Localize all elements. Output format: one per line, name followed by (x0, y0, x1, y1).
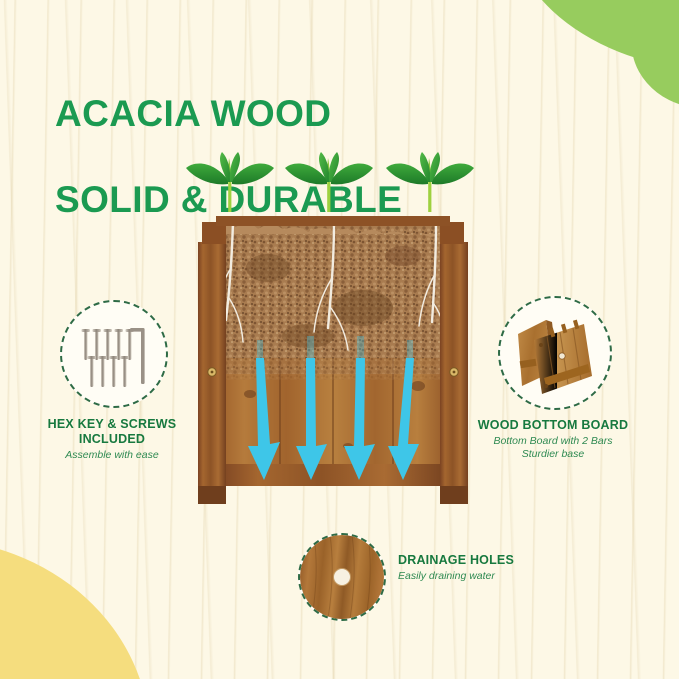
callout-hex-key-screws-text: HEX KEY & SCREWS INCLUDED Assemble with … (23, 417, 201, 462)
callout-wood-bottom-board-text: WOOD BOTTOM BOARD Bottom Board with 2 Ba… (458, 418, 648, 462)
page-title-line-1: ACACIA WOOD (55, 93, 402, 136)
callout-hex-key-screws: HEX KEY & SCREWS INCLUDED Assemble with … (60, 300, 201, 462)
callout-wood-bottom-board-title: WOOD BOTTOM BOARD (458, 418, 648, 433)
callout-drainage-holes-subtitle: Easily draining water (398, 570, 548, 583)
infographic-canvas: ACACIA WOOD SOLID & DURABLE (0, 0, 679, 679)
planter-box-cross-section (188, 208, 478, 510)
yellow-corner-blob (0, 539, 150, 679)
callout-drainage-holes-title: DRAINAGE HOLES (398, 553, 548, 568)
callout-hex-key-screws-title: HEX KEY & SCREWS INCLUDED (23, 417, 201, 447)
drainage-hole-icon (298, 533, 386, 621)
seedling-1 (184, 150, 276, 212)
callout-hex-key-screws-subtitle: Assemble with ease (23, 449, 201, 462)
callout-wood-bottom-board-subtitle-1: Bottom Board with 2 Bars (458, 435, 648, 448)
seedling-2 (283, 150, 375, 212)
wood-bottom-board-icon (498, 296, 612, 410)
seedling-3 (384, 150, 476, 212)
planter-box-illustration (188, 150, 478, 510)
callout-drainage-holes-text: DRAINAGE HOLES Easily draining water (398, 553, 548, 583)
callout-wood-bottom-board: WOOD BOTTOM BOARD Bottom Board with 2 Ba… (498, 296, 648, 462)
callout-wood-bottom-board-subtitle-2: Sturdier base (458, 448, 648, 461)
callout-drainage-holes: DRAINAGE HOLES Easily draining water (298, 533, 386, 621)
green-corner-blob (508, 0, 679, 87)
screws-and-hex-key-icon (60, 300, 168, 408)
